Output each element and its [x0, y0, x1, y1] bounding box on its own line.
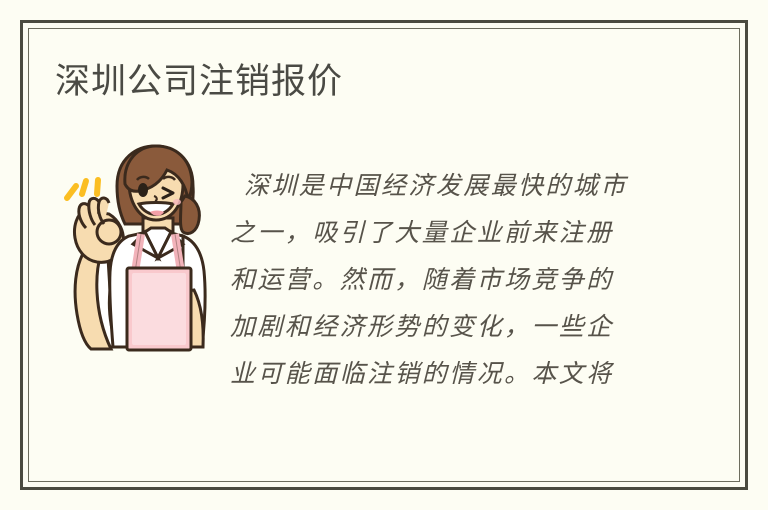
article-card-page: 深圳公司注销报价 [0, 0, 768, 510]
body-line: 业可能面临注销的情况。本文将 [230, 350, 670, 397]
blush [173, 199, 181, 205]
page-title: 深圳公司注销报价 [55, 60, 343, 104]
body-line: 加剧和经济形势的变化，一些企 [230, 303, 670, 350]
sparkle-icon [67, 180, 98, 198]
body-line: 之一，吸引了大量企业前来注册 [230, 209, 670, 256]
ponytail [181, 196, 200, 234]
body-line: 深圳是中国经济发展最快的城市 [230, 162, 670, 209]
body-line: 和运营。然而，随着市场竞争的 [230, 256, 670, 303]
eye-open [138, 183, 148, 197]
article-body: 深圳是中国经济发展最快的城市 之一，吸引了大量企业前来注册 和运营。然而，随着市… [230, 162, 670, 397]
woman-ok-gesture-illustration [55, 140, 215, 360]
illustration-svg [55, 140, 215, 360]
apron-inner [132, 273, 186, 345]
